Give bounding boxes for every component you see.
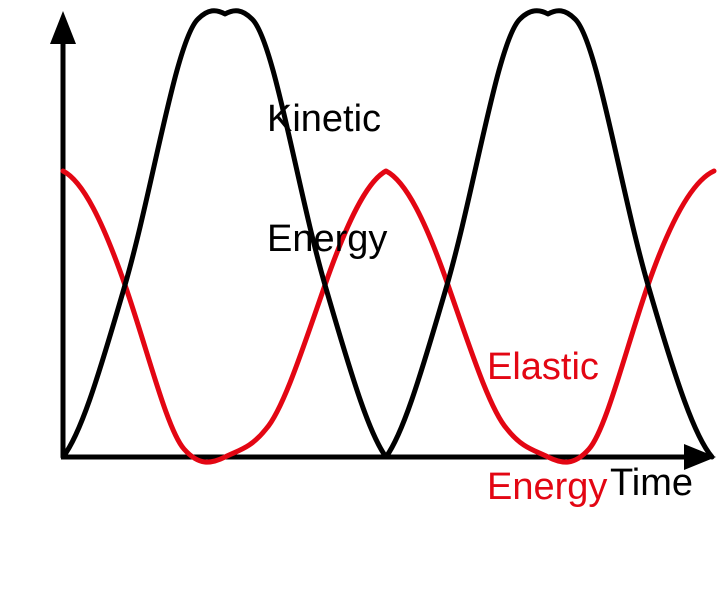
elastic-energy-label-line1: Elastic (487, 347, 607, 387)
kinetic-energy-label-line2: Energy (267, 219, 387, 259)
elastic-energy-label-line2: Energy (487, 467, 607, 507)
x-axis-label: Time (610, 463, 693, 503)
elastic-energy-label: Elastic Energy (487, 266, 607, 588)
kinetic-energy-label: Kinetic Energy (267, 18, 387, 340)
kinetic-energy-label-line1: Kinetic (267, 99, 387, 139)
elastic-energy-curve (63, 171, 714, 462)
y-axis-arrow-icon (50, 11, 76, 44)
energy-oscillation-chart: Kinetic Energy Elastic Energy Time (0, 0, 722, 512)
